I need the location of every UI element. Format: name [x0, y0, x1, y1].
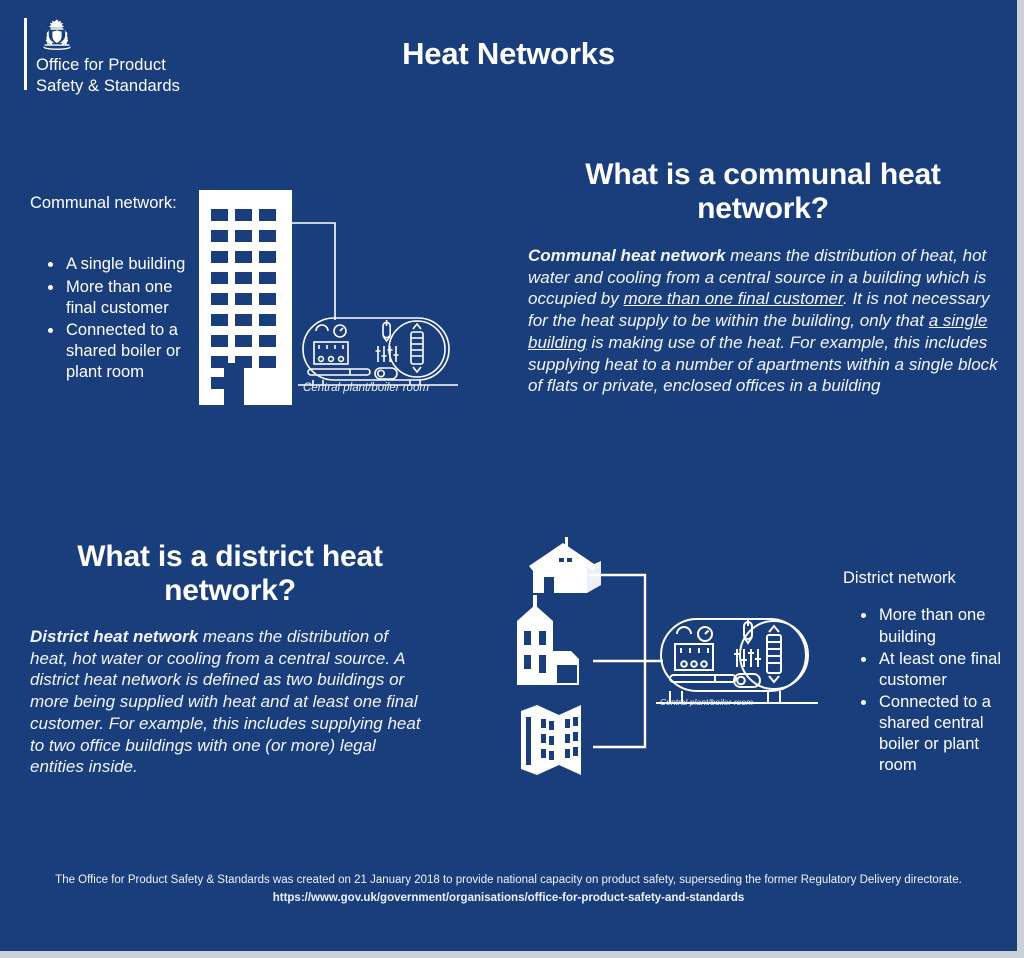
central-plant-boiler-room-icon	[656, 619, 818, 703]
footer: The Office for Product Safety & Standard…	[0, 872, 1017, 908]
district-body: District heat network means the distribu…	[30, 626, 430, 778]
list-item: Connected to a shared boiler or plant ro…	[48, 320, 190, 383]
tower-block-icon	[199, 190, 292, 405]
district-network-summary: District network More than one building …	[843, 568, 1017, 777]
district-kicker: District network	[843, 568, 1017, 589]
communal-network-diagram: Central plant/boiler room	[195, 190, 495, 405]
communal-heading: What is a communal heat network?	[528, 158, 998, 226]
heat-pipe-connector	[292, 223, 335, 320]
communal-body: Communal heat network means the distribu…	[528, 245, 998, 397]
district-heading: What is a district heat network?	[30, 540, 430, 608]
communal-bullet-list: A single building More than one final cu…	[30, 254, 190, 383]
heat-pipe-network	[589, 575, 663, 747]
communal-plant-caption: Central plant/boiler room	[303, 382, 429, 394]
page-edge-bottom	[0, 951, 1024, 958]
list-item: A single building	[48, 254, 190, 275]
central-plant-boiler-room-icon	[298, 318, 458, 385]
poster-canvas: Office for Product Safety & Standards He…	[0, 0, 1017, 951]
communal-body-part3: is making use of the heat. For example, …	[528, 333, 998, 396]
communal-body-lead: Communal heat network	[528, 246, 725, 265]
list-item: More than one building	[861, 605, 1017, 647]
district-network-diagram: Central plant/boiler room	[515, 525, 845, 795]
district-diagram-svg	[515, 525, 845, 795]
footer-url[interactable]: https://www.gov.uk/government/organisati…	[0, 890, 1017, 908]
district-bullet-list: More than one building At least one fina…	[843, 605, 1017, 776]
page-title: Heat Networks	[0, 36, 1017, 72]
office-block-icon	[521, 705, 581, 775]
communal-kicker: Communal network:	[30, 193, 190, 214]
communal-network-summary: Communal network: A single building More…	[30, 193, 190, 384]
footer-text: The Office for Product Safety & Standard…	[55, 874, 962, 886]
communal-diagram-svg	[195, 190, 495, 405]
communal-definition-block: What is a communal heat network? Communa…	[528, 158, 998, 397]
page-edge-right	[1017, 0, 1024, 958]
district-body-rest: means the distribution of heat, hot wate…	[30, 627, 421, 777]
district-plant-caption: Central plant/boiler room	[660, 697, 753, 707]
detached-house-icon	[529, 537, 601, 593]
list-item: More than one final customer	[48, 277, 190, 319]
district-definition-block: What is a district heat network? Distric…	[30, 540, 430, 778]
logo-line-2: Safety & Standards	[36, 77, 180, 95]
list-item: At least one final customer	[861, 649, 1017, 691]
district-body-lead: District heat network	[30, 627, 198, 646]
communal-body-underline1: more than one final customer	[623, 289, 843, 308]
list-item: Connected to a shared central boiler or …	[861, 692, 1017, 776]
